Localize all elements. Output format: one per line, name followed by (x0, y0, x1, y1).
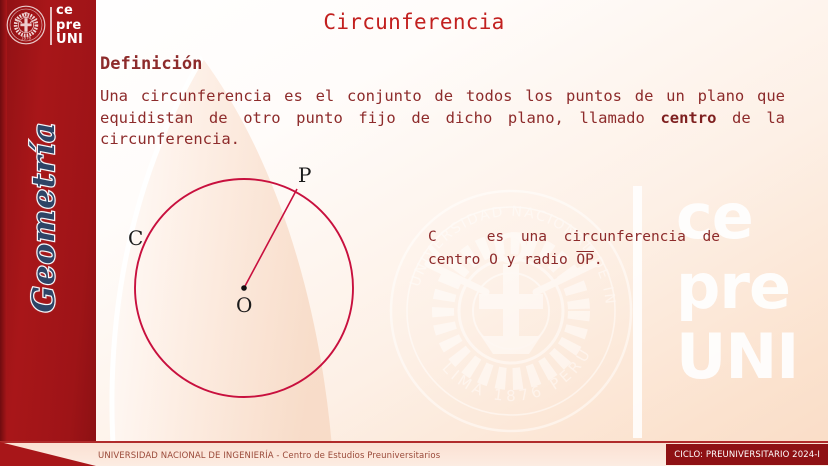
definition-emphasis: centro (660, 109, 716, 127)
slide-title: Circunferencia (0, 10, 828, 34)
footer-top-rule (0, 441, 828, 443)
footer-corner-triangle (0, 442, 96, 466)
svg-text:1876: 1876 (21, 35, 32, 40)
footer-institution-text: UNIVERSIDAD NACIONAL DE INGENIERÍA - Cen… (98, 451, 440, 461)
slide-canvas: Geometría 1876 ce pr (0, 0, 828, 466)
caption-line2-a: centro O y radio (428, 252, 576, 268)
logo-line-uni: UNI (56, 33, 83, 48)
figure-caption: C es una circunferencia de centro O y ra… (428, 226, 720, 272)
caption-line2-c: . (594, 252, 603, 268)
watermark-vertical-bar (633, 186, 642, 438)
sidebar-edge-stripe (0, 0, 7, 466)
subject-label-wrapper: Geometría (26, 117, 70, 317)
uni-seal-watermark: UNIVERSIDAD NACIONAL DE INGENIERIA LIMA … (386, 186, 636, 436)
subject-label: Geometría (26, 117, 62, 317)
definition-heading: Definición (100, 54, 202, 74)
center-point-dot (241, 285, 247, 291)
left-sidebar: Geometría (0, 0, 96, 466)
figure-label-c: C (128, 226, 143, 250)
caption-segment-op: OP (576, 252, 593, 268)
watermark-line-uni: UNI (676, 322, 826, 392)
footer-bar: UNIVERSIDAD NACIONAL DE INGENIERÍA - Cen… (0, 442, 828, 466)
caption-line1: es una circunferencia de (487, 229, 720, 245)
radius-segment (244, 189, 297, 288)
circle-figure: C P O (110, 160, 410, 420)
figure-label-o: O (236, 293, 252, 317)
definition-text: Una circunferencia es el conjunto de tod… (100, 86, 785, 151)
caption-set-name: C (428, 229, 437, 245)
cepre-watermark: ce pre UNI (676, 182, 826, 392)
figure-label-p: P (298, 163, 311, 187)
footer-cycle-badge: CICLO: PREUNIVERSITARIO 2024-I (666, 444, 828, 465)
